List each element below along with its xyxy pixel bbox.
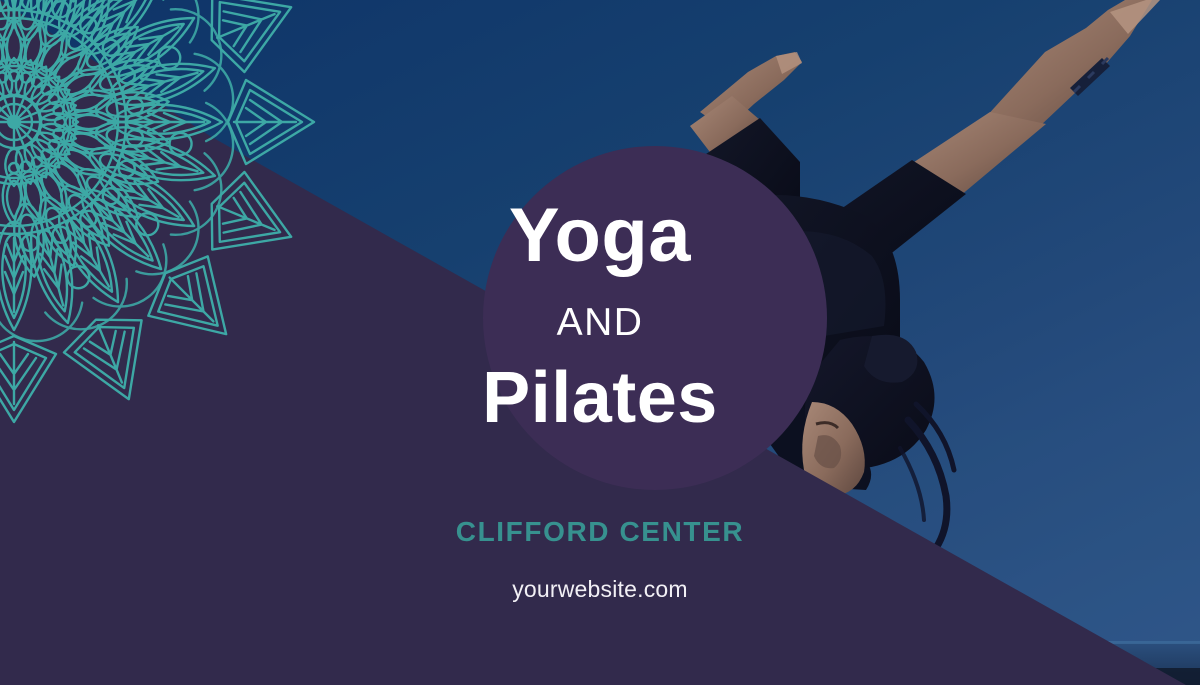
yoga-pilates-banner: Yoga AND Pilates CLIFFORD CENTER yourweb… (0, 0, 1200, 685)
mandala-ornament (0, 0, 1200, 685)
